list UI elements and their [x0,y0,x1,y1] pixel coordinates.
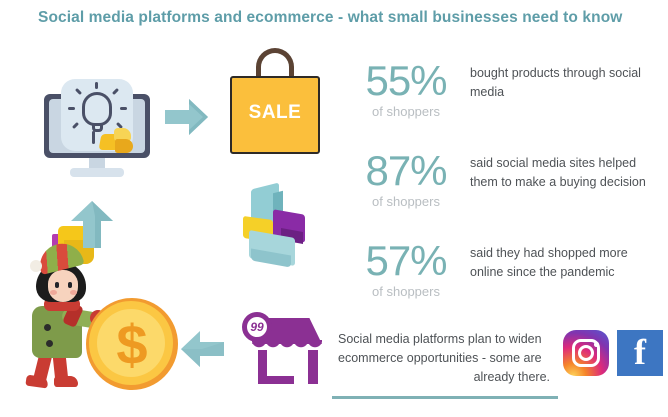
bulb-ray-icon [95,82,98,89]
stat-subtitle: of shoppers [352,284,460,299]
footnote-text: Social media platforms plan to widen eco… [338,330,550,387]
elf-hat-pompom-icon [30,260,42,272]
instagram-lens-icon [578,345,594,361]
computer-idea-illustration [36,72,158,180]
elf-eye-icon [55,282,59,288]
bag-body-icon: SALE [230,76,320,154]
elf-boot-front-icon [54,376,78,387]
stat-description: said they had shopped more online since … [470,244,660,282]
footnote-line-3: already there. [338,368,550,387]
stat-subtitle: of shoppers [352,194,460,209]
stat-description: said social media sites helped them to m… [470,154,660,192]
abstract-3d-shape-illustration [229,186,311,272]
stat-subtitle: of shoppers [352,104,460,119]
stat-description: bought products through social media [470,64,660,102]
hand-cursor-icon [100,128,134,154]
bulb-ray-icon [120,107,127,110]
elf-button-icon [46,340,53,347]
shopping-bag-illustration: SALE [228,48,322,156]
elf-face-icon [48,270,78,302]
elf-button-icon [44,324,51,331]
horizontal-divider [332,396,558,399]
arrow-left-icon [176,322,230,376]
lightbulb-stem-icon [92,131,95,144]
stat-percent: 87% [352,150,460,192]
arrow-right-icon [159,90,213,144]
footnote-line-2: ecommerce opportunities - some are [338,349,550,368]
shop-sign-label: 99 [242,312,272,342]
dollar-coin-illustration: $ [86,298,178,390]
elf-cheek-icon [70,290,77,295]
facebook-icon[interactable]: f [617,330,663,376]
elf-eye-icon [68,282,72,288]
infographic-canvas: Social media platforms and ecommerce - w… [0,0,668,417]
page-title: Social media platforms and ecommerce - w… [38,9,638,27]
stat-percent: 57% [352,240,460,282]
instagram-dot-icon [594,342,599,347]
elf-cheek-icon [50,290,57,295]
instagram-icon[interactable] [563,330,609,376]
facebook-f-label: f [617,330,663,376]
monitor-base-icon [70,168,124,177]
bulb-ray-icon [68,107,75,110]
bag-sale-label: SALE [232,102,318,124]
shop-wall-right-icon [308,350,318,384]
lightbulb-icon [82,92,112,126]
stat-percent: 55% [352,60,460,102]
dollar-sign-label: $ [86,298,178,390]
footnote-line-1: Social media platforms plan to widen [338,330,550,349]
shop-wall-bottom-icon [258,376,294,384]
storefront-illustration: 99 [236,308,322,386]
